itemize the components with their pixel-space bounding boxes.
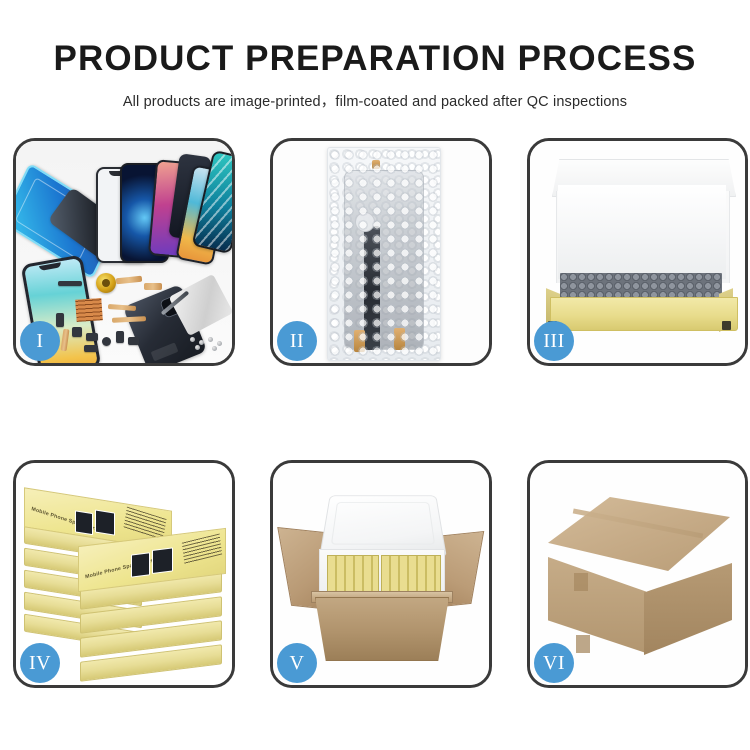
flex-cable-icon [144,283,162,290]
yellow-boxes-group [381,555,441,595]
styrofoam-lid-icon [319,495,446,556]
spec-text-lines [182,533,222,564]
carton-left-face [548,557,646,653]
product-photo-icon [152,547,173,574]
foam-sheet-icon [558,185,726,279]
vibration-motor-icon [102,337,111,346]
chip-icon [86,333,98,341]
product-preparation-infographic: PRODUCT PREPARATION PROCESS All products… [0,0,750,750]
carton-tape-tab [574,573,588,591]
page-title: PRODUCT PREPARATION PROCESS [0,40,750,79]
product-photo-icon [131,552,150,577]
flex-assembly-icon [364,226,380,350]
header: PRODUCT PREPARATION PROCESS All products… [0,40,750,111]
step-badge: IV [20,643,60,683]
copper-mesh-icon [75,298,102,322]
step-badge: VI [534,643,574,683]
yellow-boxes-group [327,555,379,595]
speaker-coil-icon [96,273,116,293]
box-stack-icon: Mobile Phone Spare Parts Mobile Phone Sp… [22,485,230,675]
bubble-wrap-bag-icon [327,147,441,361]
bubble-wrapped-items-icon [560,273,722,299]
panel-sealed-carton[interactable]: VI [527,460,748,688]
panel-carton-with-foam[interactable]: V [270,460,492,688]
screw-set-icon [190,337,224,351]
chip-icon [128,337,139,345]
chip-icon [58,281,82,286]
carton-tape-tab [576,635,590,653]
step-badge: I [20,321,60,361]
gold-connector-icon [372,160,380,169]
carton-front-panel [315,597,449,661]
panel-open-inner-box[interactable]: III [527,138,748,366]
step-badge: III [534,321,574,361]
box-corner-icon [722,321,731,330]
gold-connector-icon [394,328,405,350]
panel-phone-parts[interactable]: I [13,138,235,366]
panel-stacked-boxes[interactable]: Mobile Phone Spare Parts Mobile Phone Sp… [13,460,235,688]
panel-bubble-wrapped-part[interactable]: II [270,138,492,366]
product-photo-icon [95,510,115,536]
chip-icon [72,327,82,337]
chip-icon [84,345,98,352]
product-photo-icon [75,510,93,535]
page-subtitle: All products are image-printed，film-coat… [0,90,750,111]
gold-connector-icon [354,330,365,352]
wrapped-part-icon [344,170,424,350]
chip-icon [56,313,64,327]
box-front-panel [550,297,738,331]
process-step-grid: I II [13,138,748,688]
step-badge: II [277,321,317,361]
step-badge: V [277,643,317,683]
carton-right-face [644,563,732,655]
chip-icon [116,331,124,343]
